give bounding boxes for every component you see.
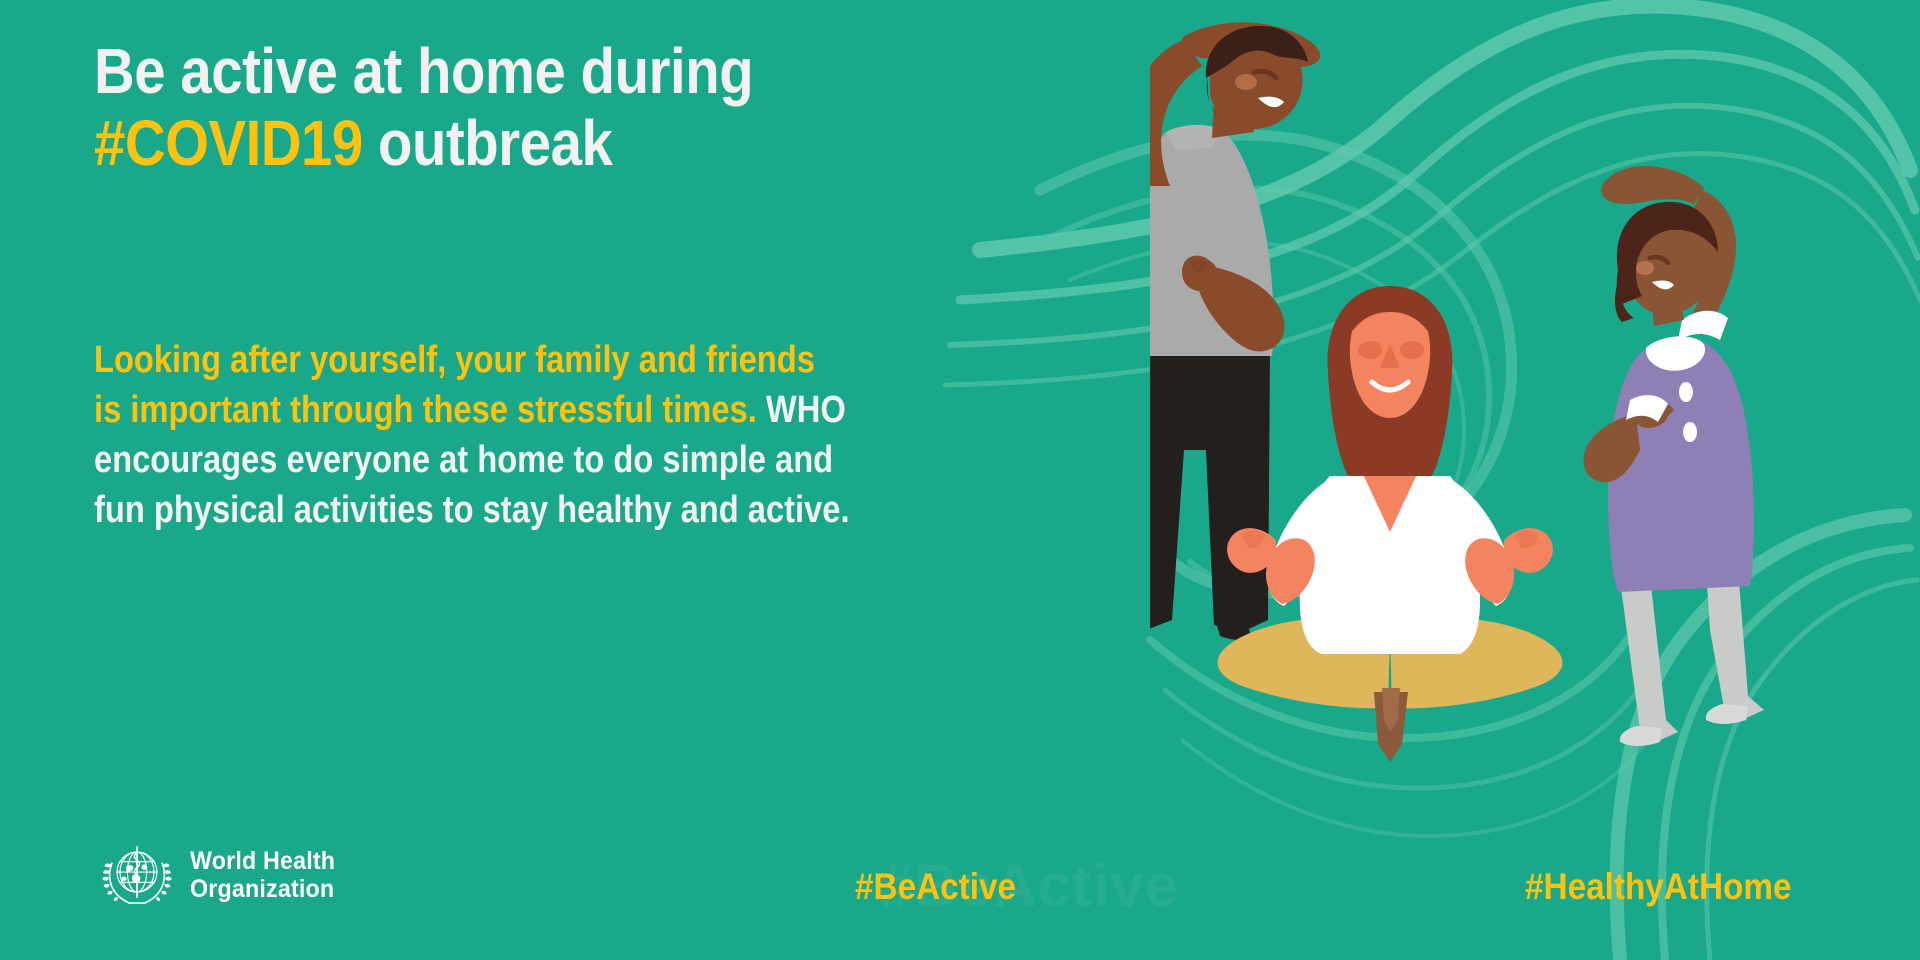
headline-hashtag-covid19: #COVID19 xyxy=(94,107,363,179)
poster-canvas: Be active at home during #COVID19 outbre… xyxy=(0,0,1920,960)
headline-line-2-rest: outbreak xyxy=(363,107,613,179)
hashtag-be-active: #BeActive xyxy=(855,866,1016,908)
figure-girl xyxy=(1583,166,1764,746)
who-wordmark-line-2: Organization xyxy=(190,875,335,903)
body-copy-lead: Looking after yourself, your family and … xyxy=(94,339,815,431)
who-logo: World Health Organization xyxy=(100,838,346,912)
family-exercising-illustration xyxy=(1150,20,1920,840)
text-column: Be active at home during #COVID19 outbre… xyxy=(94,0,974,960)
page-title: Be active at home during #COVID19 outbre… xyxy=(94,36,868,179)
headline-line-1: Be active at home during xyxy=(94,35,753,107)
hashtag-healthy-at-home: #HealthyAtHome xyxy=(1525,866,1791,908)
who-emblem-icon xyxy=(100,838,174,912)
who-wordmark-line-1: World Health xyxy=(190,847,335,875)
who-wordmark: World Health Organization xyxy=(190,847,335,903)
body-copy: Looking after yourself, your family and … xyxy=(94,335,851,536)
